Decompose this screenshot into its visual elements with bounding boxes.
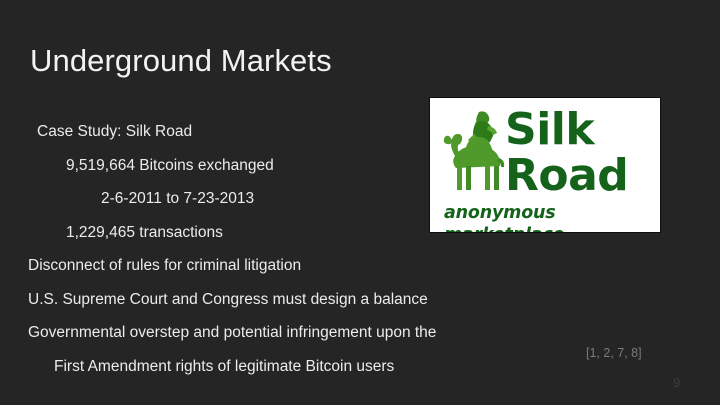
logo-word-road: Road [505, 150, 628, 202]
list-item: U.S. Supreme Court and Congress must des… [0, 283, 430, 317]
list-item: 2-6-2011 to 7-23-2013 [0, 182, 430, 216]
list-item: Case Study: Silk Road [0, 115, 430, 149]
silk-road-logo-image: Silk Road anonymous marketplace [429, 97, 661, 233]
citation-reference: [1, 2, 7, 8] [586, 345, 642, 361]
bullet-list: Case Study: Silk Road 9,519,664 Bitcoins… [0, 115, 430, 383]
list-item: 1,229,465 transactions [0, 216, 430, 250]
list-item: Governmental overstep and potential infr… [0, 316, 430, 350]
logo-tagline: anonymous marketplace [444, 202, 660, 233]
page-title: Underground Markets [30, 43, 332, 79]
page-number: 9 [673, 375, 680, 391]
list-item: Disconnect of rules for criminal litigat… [0, 249, 430, 283]
logo-word-silk: Silk [505, 104, 594, 156]
list-item: First Amendment rights of legitimate Bit… [0, 350, 430, 384]
slide: Underground Markets Case Study: Silk Roa… [0, 0, 720, 405]
camel-icon [443, 108, 511, 192]
list-item: 9,519,664 Bitcoins exchanged [0, 149, 430, 183]
